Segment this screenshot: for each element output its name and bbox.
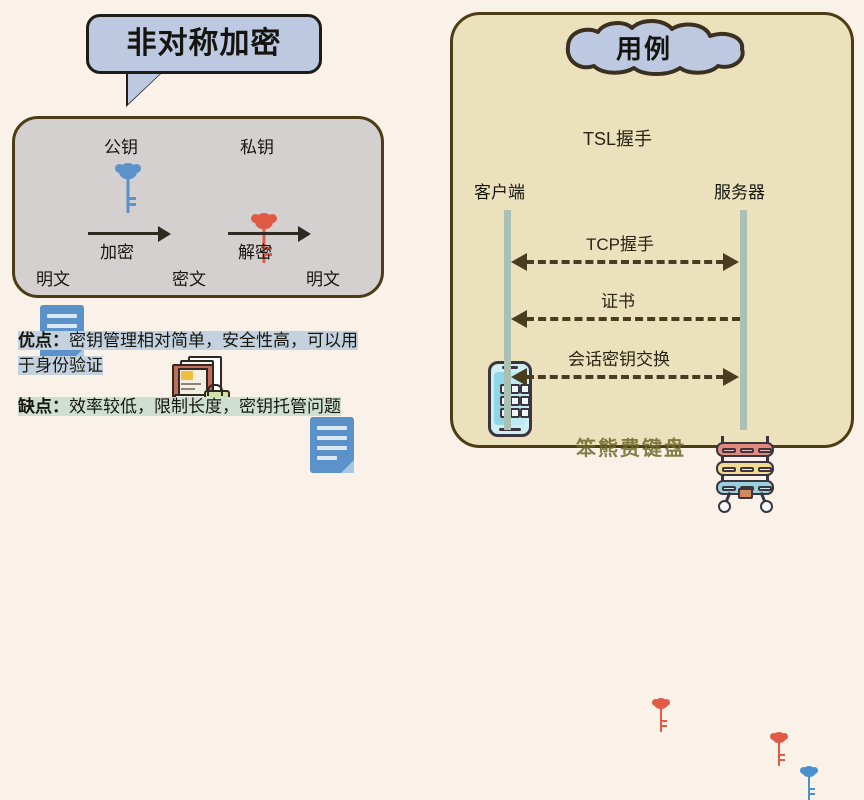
tsl-handshake-label: TSL握手	[583, 125, 652, 151]
session-key-exchange-label: 会话密钥交换	[568, 345, 670, 370]
ciphertext-label: 密文	[172, 265, 206, 290]
tcp-arrow-left	[511, 253, 527, 271]
title-bubble: 非对称加密	[86, 14, 322, 74]
title-text: 非对称加密	[89, 17, 319, 71]
public-key-label: 公钥	[104, 133, 138, 158]
certificate-arrow-left	[511, 310, 527, 328]
decrypt-label: 解密	[238, 238, 272, 263]
certificate-arrow-line	[526, 317, 740, 321]
plaintext-label-1: 明文	[36, 265, 70, 290]
tcp-arrow-line	[526, 260, 724, 264]
title-bubble-tail	[128, 72, 162, 104]
tcp-handshake-label: TCP握手	[586, 230, 654, 255]
plaintext-label-2: 明文	[306, 265, 340, 290]
watermark-text: 笨熊费键盘	[576, 432, 686, 461]
plaintext-document-icon-2	[310, 417, 354, 473]
advantages-body: 密钥管理相对简单，安全性高，可以用于身份验证	[18, 331, 358, 375]
encrypt-arrow-line	[88, 232, 160, 235]
client-label: 客户端	[474, 178, 525, 203]
tcp-arrow-right	[723, 253, 739, 271]
session-arrow-left	[511, 368, 527, 386]
encrypt-label: 加密	[100, 238, 134, 263]
client-lifeline	[504, 210, 511, 430]
session-arrow-right	[723, 368, 739, 386]
server-public-key-icon	[800, 766, 818, 800]
encrypt-arrow-head	[158, 226, 171, 242]
certificate-label: 证书	[601, 287, 635, 312]
server-label: 服务器	[714, 178, 765, 203]
server-private-key-icon	[770, 732, 788, 766]
server-lifeline	[740, 210, 747, 430]
disadvantages-body: 效率较低，限制长度，密钥托管问题	[69, 397, 341, 416]
session-arrow-line	[526, 375, 724, 379]
advantages-note: 优点：密钥管理相对简单，安全性高，可以用于身份验证	[14, 326, 374, 380]
disadvantages-prefix: 缺点：	[18, 397, 69, 416]
private-key-label: 私钥	[240, 133, 274, 158]
advantages-prefix: 优点：	[18, 331, 69, 350]
cloud-title-text: 用例	[528, 16, 760, 78]
cloud-title-shape: 用例	[528, 16, 760, 78]
decrypt-arrow-head	[298, 226, 311, 242]
public-key-icon	[115, 163, 141, 213]
decrypt-arrow-line	[228, 232, 300, 235]
disadvantages-note: 缺点：效率较低，限制长度，密钥托管问题	[14, 392, 374, 421]
certificate-red-key-icon	[652, 698, 670, 732]
infographic-canvas: 非对称加密 公钥 私钥 明文 加密	[0, 0, 864, 458]
server-rack-icon	[712, 434, 778, 512]
